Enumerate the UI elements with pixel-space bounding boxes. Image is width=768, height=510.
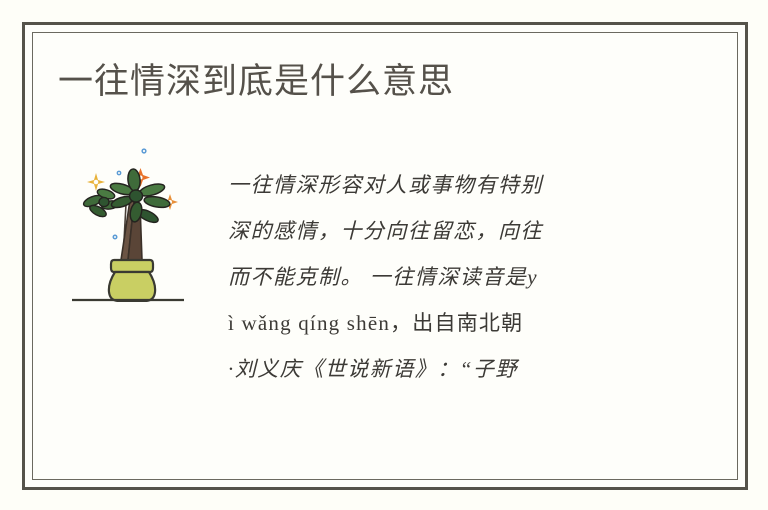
potted-plant-illustration	[60, 142, 210, 302]
page-root: 一往情深到底是什么意思	[0, 0, 768, 510]
page-title: 一往情深到底是什么意思	[58, 60, 454, 104]
flower-pot	[109, 260, 155, 301]
leaf-cluster-main	[109, 168, 171, 225]
body-line-3: 而不能克制。 一往情深读音是y	[228, 254, 698, 300]
body-text-block: 一往情深形容对人或事物有特别 深的感情，十分向往留恋，向往 而不能克制。 一往情…	[228, 162, 698, 392]
body-line-4-pinyin: ì wǎng qíng shēn，出自南北朝	[228, 300, 698, 346]
body-line-2: 深的感情，十分向往留恋，向往	[228, 208, 698, 254]
sparkle-dot-blue-mid	[117, 171, 122, 176]
body-line-5: ·刘义庆《世说新语》：“子野	[228, 346, 698, 392]
body-line-1: 一往情深形容对人或事物有特别	[228, 162, 698, 208]
sparkle-star-yellow	[87, 173, 105, 191]
sparkle-dot-blue-top	[141, 148, 146, 153]
sparkle-dot-blue-low	[113, 235, 118, 240]
